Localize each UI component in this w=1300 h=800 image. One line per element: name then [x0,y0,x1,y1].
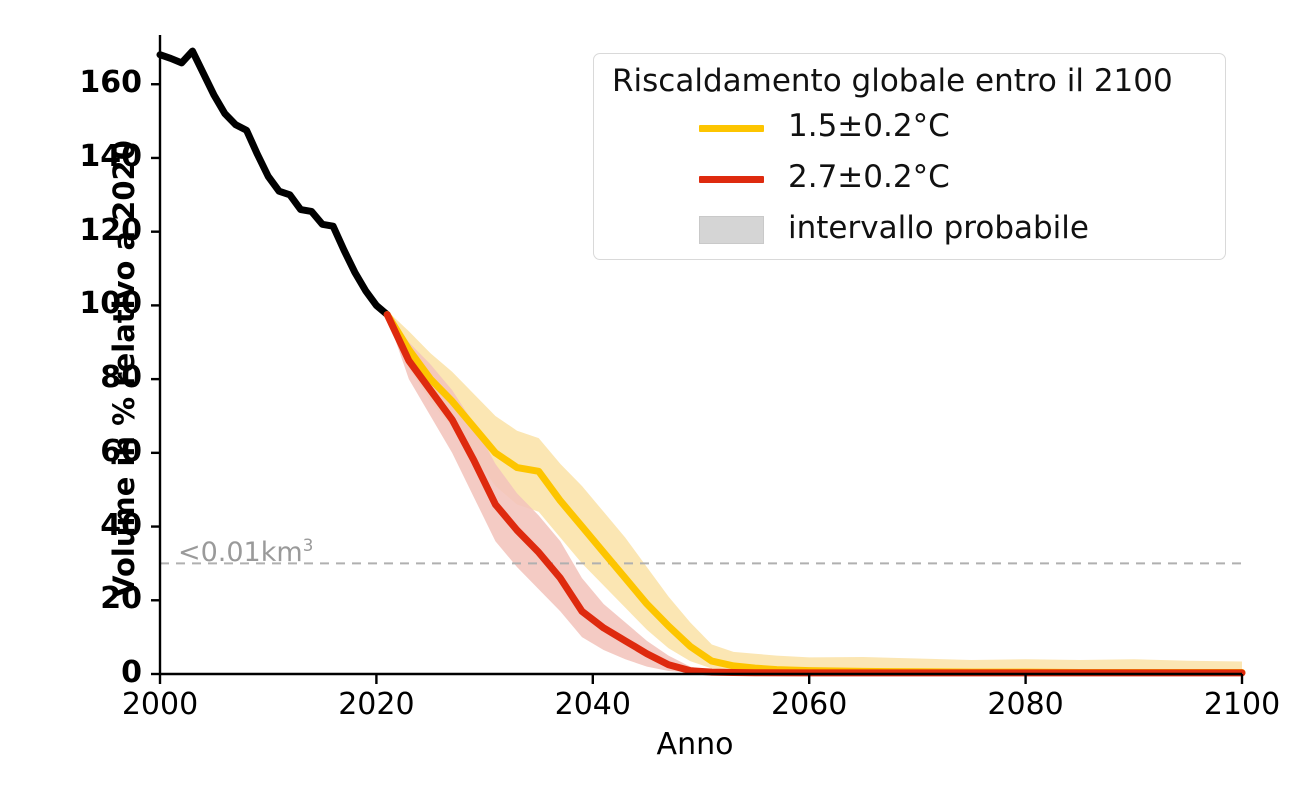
y-tick-label: 0 [2,658,142,688]
y-tick-label: 100 [2,289,142,319]
x-tick-label: 2020 [296,690,456,720]
legend-line-swatch [699,125,764,132]
threshold-annotation-exponent: 3 [303,535,314,555]
y-tick-label: 140 [2,142,142,172]
threshold-annotation: <0.01km3 [178,535,313,568]
legend-entry[interactable]: intervallo probabile [594,208,1225,252]
y-tick-label: 40 [2,511,142,541]
x-tick-label: 2000 [80,690,240,720]
line-storico [160,51,387,315]
x-tick-label: 2100 [1162,690,1300,720]
legend-patch-swatch [699,216,764,244]
legend-line-swatch [699,176,764,183]
legend-entry-label: 2.7±0.2°C [788,159,950,195]
y-tick-label: 80 [2,363,142,393]
legend-entry[interactable]: 2.7±0.2°C [594,157,1225,201]
legend-entry-label: 1.5±0.2°C [788,108,950,144]
uncertainty-bands [387,311,1242,673]
y-tick-label: 160 [2,68,142,98]
chart-legend[interactable]: Riscaldamento globale entro il 2100 1.5±… [593,53,1226,260]
y-tick-label: 60 [2,437,142,467]
x-axis-label: Anno [0,727,1300,762]
band-riscaldamento-2-7 [387,311,1242,673]
threshold-annotation-text: <0.01km [178,537,303,568]
chart-figure: Volume in % relativo a 2020 Anno 0204060… [0,0,1300,800]
legend-entry[interactable]: 1.5±0.2°C [594,106,1225,150]
legend-title: Riscaldamento globale entro il 2100 [612,63,1173,99]
y-tick-label: 120 [2,216,142,246]
x-tick-label: 2040 [513,690,673,720]
legend-entry-label: intervallo probabile [788,210,1089,246]
y-tick-label: 20 [2,584,142,614]
x-tick-label: 2060 [729,690,889,720]
x-tick-label: 2080 [946,690,1106,720]
